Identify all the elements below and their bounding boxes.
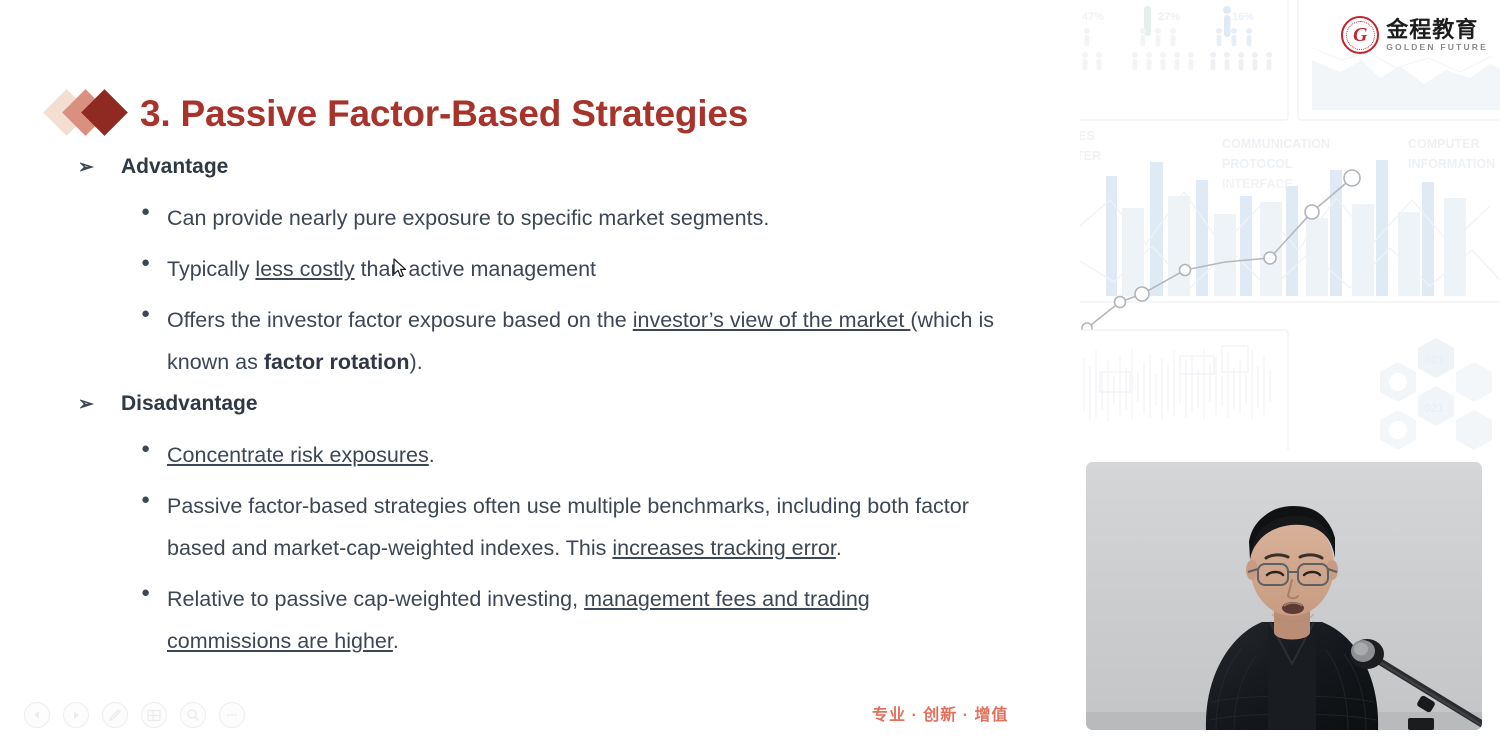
dot-bullet-icon: ● bbox=[141, 434, 167, 464]
next-slide-button[interactable] bbox=[63, 702, 89, 728]
diamond-decoration-icon bbox=[50, 89, 132, 137]
dot-bullet-icon: ● bbox=[141, 197, 167, 227]
bullet-text: Concentrate risk exposures. bbox=[167, 434, 435, 476]
previous-slide-button[interactable] bbox=[24, 702, 50, 728]
dot-bullet-icon: ● bbox=[141, 578, 167, 608]
svg-text:COMPUTER: COMPUTER bbox=[1408, 137, 1480, 151]
slide-content: ➢ Advantage ● Can provide nearly pure ex… bbox=[78, 156, 1038, 662]
slides-grid-icon bbox=[147, 709, 161, 722]
dot-bullet-icon: ● bbox=[141, 248, 167, 278]
page-title: 3. Passive Factor-Based Strategies bbox=[140, 95, 748, 132]
list-item: ● Typically less costly than active mana… bbox=[78, 248, 1038, 290]
presenter-video[interactable] bbox=[1086, 462, 1482, 730]
brand-name-en: GOLDEN FUTURE bbox=[1386, 43, 1488, 52]
section-advantage: ➢ Advantage ● Can provide nearly pure ex… bbox=[78, 156, 1038, 383]
seal-letter: G bbox=[1353, 25, 1367, 45]
section-heading-row: ➢ Disadvantage bbox=[78, 393, 1038, 425]
svg-text:INFORMATION: INFORMATION bbox=[1408, 157, 1495, 171]
dot-bullet-icon: ● bbox=[141, 299, 167, 329]
slide-toolbar bbox=[24, 702, 245, 728]
more-options-icon bbox=[225, 712, 239, 718]
seal-icon: G bbox=[1341, 16, 1379, 54]
list-item: ● Can provide nearly pure exposure to sp… bbox=[78, 197, 1038, 239]
pen-icon bbox=[108, 708, 122, 722]
svg-text:401: 401 bbox=[1424, 353, 1444, 367]
slides-grid-button[interactable] bbox=[141, 702, 167, 728]
brand-logo: G 金程教育 GOLDEN FUTURE bbox=[1341, 16, 1488, 54]
svg-text:ES: ES bbox=[1080, 129, 1095, 143]
svg-text:COMMUNICATION: COMMUNICATION bbox=[1222, 137, 1330, 151]
dot-bullet-icon: ● bbox=[141, 485, 167, 515]
section-disadvantage: ➢ Disadvantage ● Concentrate risk exposu… bbox=[78, 393, 1038, 662]
background-infographic: 47% 27% 16% bbox=[1080, 0, 1500, 450]
slide-title-row: 3. Passive Factor-Based Strategies bbox=[50, 84, 748, 142]
search-icon bbox=[186, 708, 200, 722]
bullet-text: Can provide nearly pure exposure to spec… bbox=[167, 197, 769, 239]
slide-canvas: 3. Passive Factor-Based Strategies ➢ Adv… bbox=[0, 0, 1080, 750]
brand-text: 金程教育 GOLDEN FUTURE bbox=[1386, 19, 1488, 52]
bullet-text: Relative to passive cap-weighted investi… bbox=[167, 578, 997, 662]
svg-text:16%: 16% bbox=[1232, 11, 1254, 23]
svg-text:TER: TER bbox=[1080, 149, 1101, 163]
list-item: ● Passive factor-based strategies often … bbox=[78, 485, 1038, 569]
brand-name-cn: 金程教育 bbox=[1386, 19, 1488, 41]
arrow-bullet-icon: ➢ bbox=[78, 158, 121, 177]
previous-slide-icon bbox=[31, 709, 43, 721]
svg-text:PROTOCOL: PROTOCOL bbox=[1222, 157, 1293, 171]
bullet-text: Typically less costly than active manage… bbox=[167, 248, 596, 290]
section-heading-label: Advantage bbox=[121, 156, 228, 177]
bullet-text: Offers the investor factor exposure base… bbox=[167, 299, 997, 383]
arrow-bullet-icon: ➢ bbox=[78, 395, 121, 414]
svg-text:47%: 47% bbox=[1082, 11, 1104, 23]
bullet-text: Passive factor-based strategies often us… bbox=[167, 485, 997, 569]
infographic-svg: 47% 27% 16% bbox=[1080, 0, 1500, 450]
right-column: 47% 27% 16% bbox=[1080, 0, 1500, 750]
section-heading-row: ➢ Advantage bbox=[78, 156, 1038, 188]
list-item: ● Relative to passive cap-weighted inves… bbox=[78, 578, 1038, 662]
annotate-button[interactable] bbox=[102, 702, 128, 728]
section-heading-label: Disadvantage bbox=[121, 393, 258, 414]
video-frame bbox=[1086, 462, 1482, 730]
search-button[interactable] bbox=[180, 702, 206, 728]
brand-slogan: 专业 · 创新 · 增值 bbox=[872, 701, 1008, 725]
next-slide-icon bbox=[70, 709, 82, 721]
list-item: ● Offers the investor factor exposure ba… bbox=[78, 299, 1038, 383]
list-item: ● Concentrate risk exposures. bbox=[78, 434, 1038, 476]
svg-text:021: 021 bbox=[1424, 401, 1444, 415]
svg-text:INTERFACE: INTERFACE bbox=[1222, 177, 1293, 191]
svg-text:27%: 27% bbox=[1158, 11, 1180, 23]
more-options-button[interactable] bbox=[219, 702, 245, 728]
